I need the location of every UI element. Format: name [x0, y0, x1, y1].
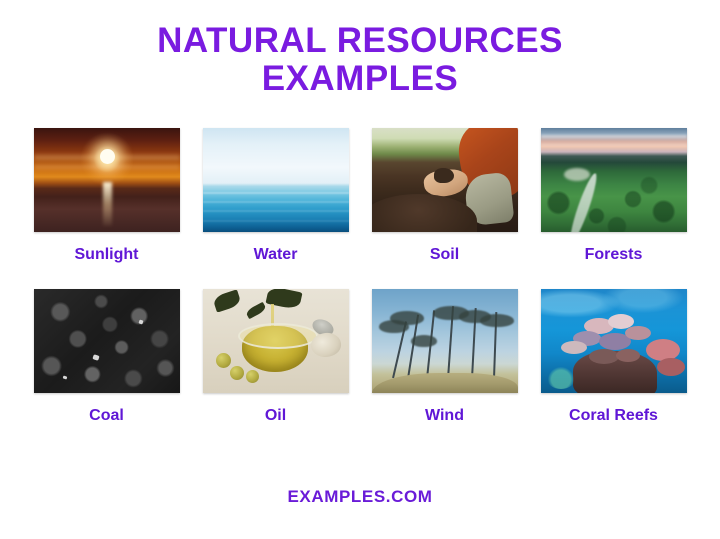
windswept-trees-photo	[372, 289, 518, 393]
wave-streak	[203, 192, 349, 194]
example-label-forests: Forests	[585, 245, 643, 265]
example-card-water: Water	[191, 128, 360, 265]
coral-reef-underwater-photo	[541, 289, 687, 393]
ocean-horizon-photo	[203, 128, 349, 232]
natural-resources-infographic: NATURAL RESOURCES EXAMPLES Sunlight	[0, 0, 720, 539]
sun-reflection-shape	[103, 182, 112, 226]
example-card-oil: Oil	[191, 289, 360, 426]
example-label-sunlight: Sunlight	[75, 245, 139, 265]
sunset-over-water-photo	[34, 128, 180, 232]
olive-shape	[216, 353, 231, 368]
example-label-oil: Oil	[265, 406, 286, 426]
title-line-2: EXAMPLES	[0, 60, 720, 98]
sun-shape	[100, 149, 115, 164]
hands-holding-soil-photo	[372, 128, 518, 232]
example-card-coral-reefs: Coral Reefs	[529, 289, 698, 426]
bowl-rim-shape	[238, 323, 318, 349]
olive-shape	[246, 370, 259, 383]
example-card-wind: Wind	[360, 289, 529, 426]
example-label-coal: Coal	[89, 406, 124, 426]
example-label-wind: Wind	[425, 406, 464, 426]
olive-leaf-shape	[212, 290, 242, 313]
coal-highlight	[93, 354, 100, 361]
coal-chunks-photo	[34, 289, 180, 393]
tree-crown	[411, 335, 437, 347]
example-card-coal: Coal	[22, 289, 191, 426]
coral-plate	[561, 341, 587, 354]
tree-crown	[480, 314, 514, 327]
example-label-water: Water	[254, 245, 298, 265]
example-card-sunlight: Sunlight	[22, 128, 191, 265]
coal-highlight	[62, 376, 67, 380]
cloud-streak	[541, 135, 687, 138]
olive-leaf-shape	[245, 301, 267, 318]
examples-row-2: Coal Oil	[22, 289, 698, 426]
examples-grid: Sunlight Water Soil	[22, 128, 698, 426]
forest-clearing-shape	[564, 168, 590, 181]
wave-streak	[203, 220, 349, 222]
example-card-soil: Soil	[360, 128, 529, 265]
example-label-coral-reefs: Coral Reefs	[569, 406, 658, 426]
soil-mound-shape	[372, 194, 477, 232]
aerial-forest-canopy-photo	[541, 128, 687, 232]
water-shimmer	[541, 289, 687, 337]
examples-row-1: Sunlight Water Soil	[22, 128, 698, 265]
example-label-soil: Soil	[430, 245, 459, 265]
wave-streak	[203, 201, 349, 203]
footer-brand: EXAMPLES.COM	[0, 487, 720, 507]
olive-shape	[230, 366, 244, 380]
wave-streak	[203, 210, 349, 212]
canopy-texture	[541, 159, 687, 232]
coral-plate	[625, 326, 651, 340]
tree-crown	[390, 311, 424, 325]
soil-clod-shape	[434, 168, 454, 183]
page-title: NATURAL RESOURCES EXAMPLES	[0, 22, 720, 98]
cloud-band	[34, 165, 180, 169]
sea-grass-shape	[546, 365, 576, 389]
olive-oil-bowl-photo	[203, 289, 349, 393]
example-card-forests: Forests	[529, 128, 698, 265]
title-line-1: NATURAL RESOURCES	[0, 22, 720, 60]
cloud-streak	[541, 144, 687, 146]
coral-plate	[657, 358, 685, 376]
coal-highlight	[138, 320, 143, 325]
